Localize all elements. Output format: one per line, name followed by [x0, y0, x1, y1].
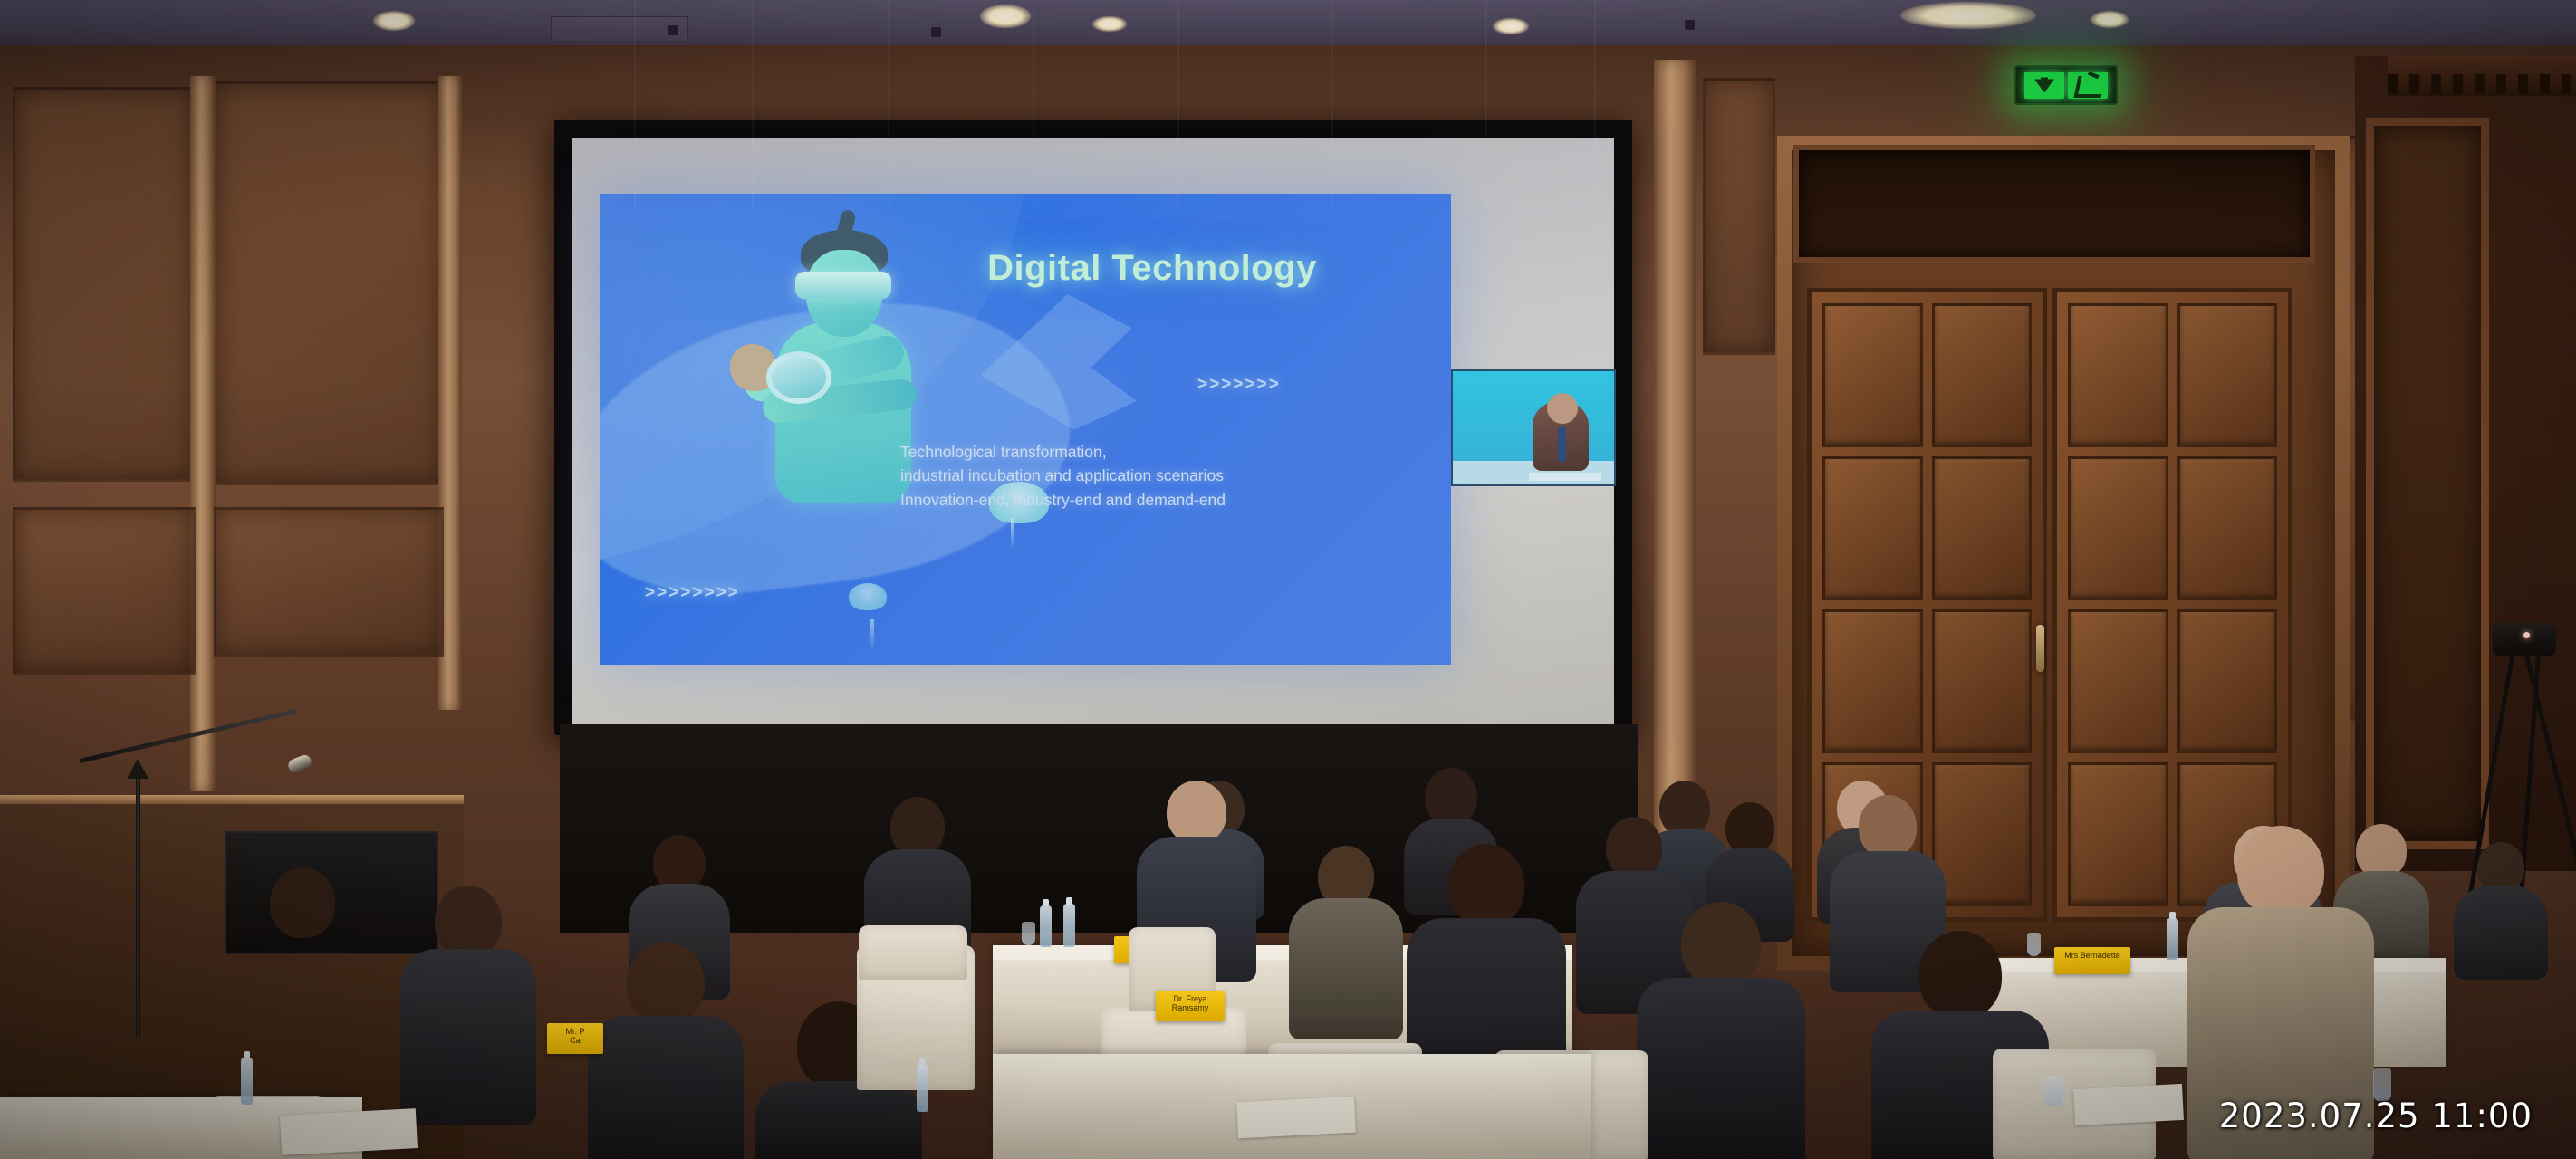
door-panel	[2068, 609, 2168, 753]
audience-member	[598, 942, 734, 1159]
water-bottle	[917, 1065, 928, 1112]
audience-member	[1648, 902, 1793, 1159]
camera-tripod-head	[2493, 623, 2556, 656]
water-bottle	[1040, 905, 1052, 947]
slide-body-line: Technological transformation,	[900, 440, 1444, 464]
vr-controller-icon	[766, 351, 831, 404]
slide-title: Digital Technology	[899, 248, 1406, 289]
slide-body-line: industrial incubation and application sc…	[900, 464, 1444, 487]
door-panel	[2068, 303, 2168, 447]
wall-panel	[13, 87, 196, 482]
audience-member	[2456, 842, 2545, 978]
wall-panel	[214, 81, 444, 485]
wall-pilaster	[1654, 60, 1696, 893]
audience-member	[245, 867, 360, 1094]
ceiling-downlight	[1092, 16, 1127, 32]
picture-in-picture-video-feed	[1451, 369, 1616, 486]
paper-document	[2073, 1084, 2184, 1125]
ceiling-downlight	[2091, 11, 2129, 28]
placard-line1: Mrs Bernadette	[2064, 951, 2120, 960]
drinking-glass	[1022, 922, 1035, 945]
exit-sign	[2014, 65, 2118, 105]
ceiling-downlight	[1900, 2, 2036, 29]
slide-body-text: Technological transformation, industrial…	[900, 440, 1444, 512]
placard-line2: Ramsamy	[1172, 1003, 1209, 1012]
door-panel	[2068, 456, 2168, 600]
ceiling-downlight	[1493, 18, 1529, 34]
wall-panel	[214, 507, 444, 657]
drinking-glass	[2045, 1076, 2063, 1106]
door-panel	[2177, 609, 2278, 753]
paper-document	[280, 1108, 418, 1155]
exit-down-arrow-icon	[2024, 72, 2064, 99]
door-panel	[1822, 456, 1923, 600]
door-panel	[1932, 762, 2033, 906]
ceiling-downlight	[980, 5, 1031, 28]
projected-slide: Digital Technology >>>>>>> Technological…	[600, 194, 1451, 665]
chevron-decoration-top: >>>>>>>	[1197, 375, 1281, 395]
camera-indicator-light	[2523, 632, 2530, 638]
water-bottle	[2167, 918, 2178, 960]
door-panel	[2068, 762, 2168, 906]
door-panel	[1932, 609, 2033, 753]
paper-document	[1236, 1097, 1356, 1139]
door-panel	[1932, 303, 2033, 447]
camera-timestamp-watermark: 2023.07.25 11:00	[2219, 1097, 2533, 1135]
conference-hall-photo: Digital Technology >>>>>>> Technological…	[0, 0, 2576, 1159]
wall-panel	[1703, 78, 1775, 355]
vr-goggles-icon	[795, 272, 891, 299]
niche-frame	[2366, 118, 2489, 849]
wall-panel	[13, 507, 196, 675]
placard-line2: Ca	[570, 1036, 581, 1045]
slide-body-line: Innovation-end, industry-end and demand-…	[900, 488, 1444, 512]
chair-cover	[859, 925, 967, 980]
door-handle[interactable]	[2036, 625, 2044, 672]
water-bottle	[241, 1058, 253, 1105]
ceiling-fixture	[1685, 20, 1695, 30]
placard-line1: Mr. P	[565, 1027, 584, 1036]
door-panel	[2177, 456, 2278, 600]
door-panel	[1932, 456, 2033, 600]
ceiling-downlight	[373, 11, 415, 31]
jellyfish-illustration	[849, 583, 887, 610]
water-bottle	[1063, 904, 1075, 947]
name-placard: Mrs Bernadette	[2054, 947, 2130, 974]
pip-nameplate	[1529, 473, 1601, 481]
chevron-decoration-bottom: >>>>>>>>	[645, 583, 740, 603]
name-placard: Dr. Freya Ramsamy	[1156, 991, 1225, 1021]
door-panel	[1822, 609, 1923, 753]
microphone-stand-pole	[136, 766, 140, 1038]
placard-line1: Dr. Freya	[1173, 994, 1206, 1003]
door-panel	[1822, 303, 1923, 447]
name-placard: Mr. P Ca	[547, 1023, 603, 1054]
wall-pilaster	[190, 76, 216, 791]
ceiling-fixture	[668, 25, 678, 35]
exit-running-person-icon	[2068, 72, 2108, 99]
ceiling-fixture	[931, 27, 941, 37]
audience-member	[1295, 846, 1397, 1036]
cornice-dentils	[2388, 74, 2576, 94]
audience-member	[409, 886, 527, 1121]
door-panel	[2177, 303, 2278, 447]
door-transom	[1793, 145, 2315, 263]
